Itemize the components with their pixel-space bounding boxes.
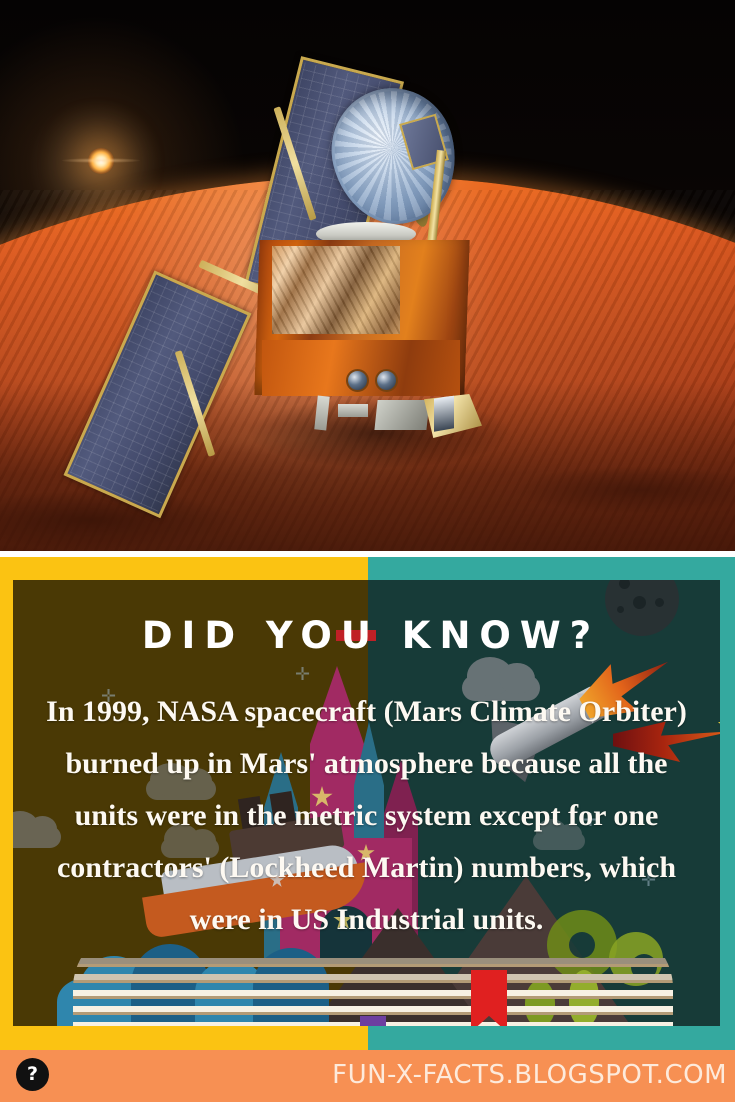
instrument-lens (375, 369, 398, 392)
help-icon[interactable]: ? (16, 1058, 49, 1091)
fact-panel: ✛ ✛ ✛ ✛ ✛ (13, 580, 720, 1026)
fact-card-band: ✛ ✛ ✛ ✛ ✛ (0, 557, 735, 1050)
spacecraft-leg (338, 404, 368, 417)
page-title: DID YOU KNOW? (13, 614, 720, 657)
book-spine (360, 1016, 386, 1026)
thermal-foil-blanket (272, 246, 400, 334)
fact-text: In 1999, NASA spacecraft (Mars Climate O… (41, 686, 692, 946)
solar-panel-lower (63, 270, 251, 518)
star-shape (717, 706, 720, 752)
mars-orbiter-photo (0, 0, 735, 551)
instrument-box (374, 400, 429, 430)
footer-bar: ? FUN-X-FACTS.BLOGSPOT.COM (0, 1050, 735, 1102)
instrument-lens (346, 369, 369, 392)
sparkle-icon: ✛ (295, 666, 310, 684)
orbiter-spacecraft (0, 0, 735, 551)
pinterest-fact-pin: ✛ ✛ ✛ ✛ ✛ (0, 0, 735, 1102)
site-url-label[interactable]: FUN-X-FACTS.BLOGSPOT.COM (332, 1060, 727, 1090)
